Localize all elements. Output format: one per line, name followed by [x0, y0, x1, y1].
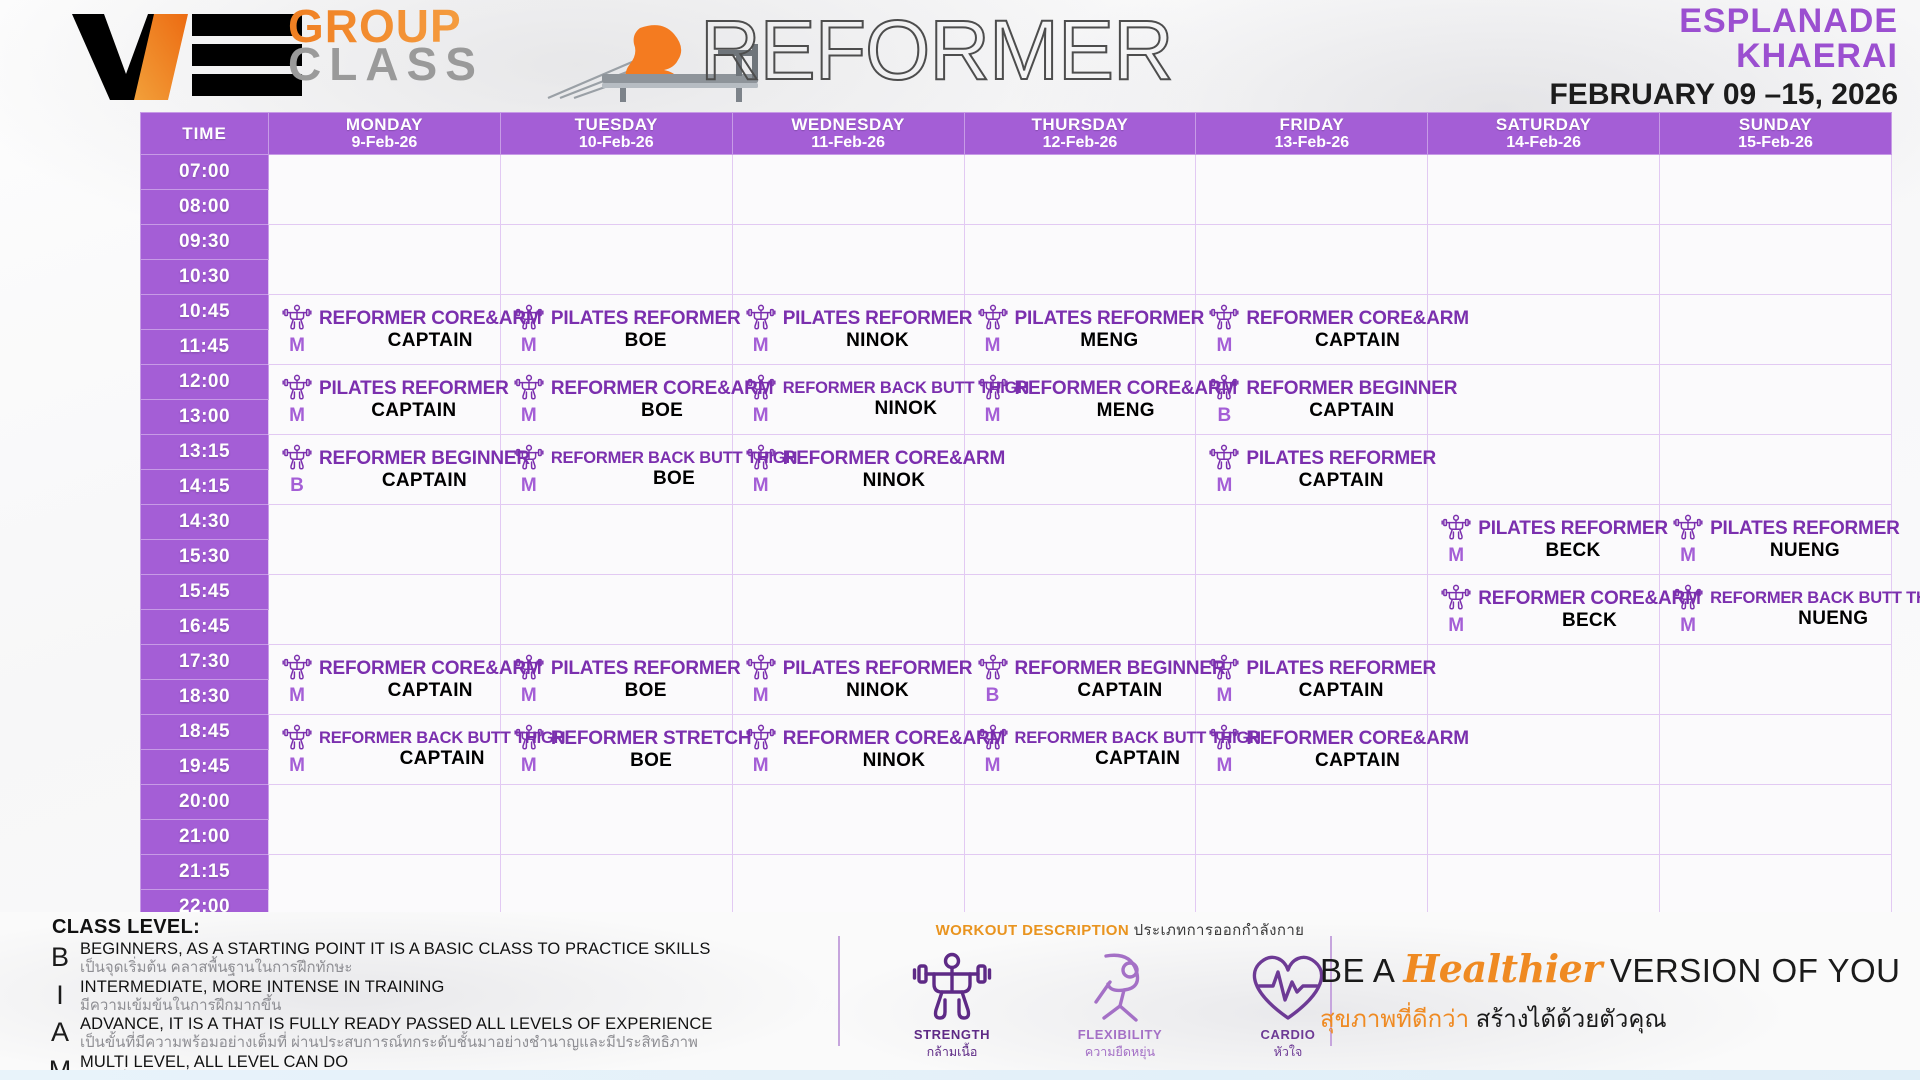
level-text-th: เป็นจุดเริ่มต้น คลาสพื้นฐานในการฝึกทักษะ	[80, 959, 830, 976]
empty-slot	[1196, 575, 1428, 645]
workout-title-th: ประเภทการออกกำลังกาย	[1134, 922, 1305, 939]
strength-icon	[282, 723, 312, 751]
slot-text: REFORMER BEGINNERCAPTAIN	[1015, 659, 1226, 700]
slot-icon-level: M	[739, 723, 783, 777]
slot-icon-level: M	[1434, 583, 1478, 637]
day-name: FRIDAY	[1196, 116, 1427, 134]
class-name: REFORMER STRETCH	[551, 729, 752, 748]
instructor-name: CAPTAIN	[1015, 681, 1226, 700]
time-cell-start: 14:30	[141, 505, 269, 540]
slot-icon-level: B	[971, 653, 1015, 707]
empty-slot	[269, 225, 501, 295]
class-slot[interactable]: MREFORMER CORE&ARMNINOK	[732, 435, 964, 505]
time-cell-end: 16:45	[141, 610, 269, 645]
empty-slot	[1428, 435, 1660, 505]
class-slot[interactable]: MPILATES REFORMERBECK	[1428, 505, 1660, 575]
poster-footer: CLASS LEVEL: BBEGINNERS, AS A STARTING P…	[0, 912, 1920, 1080]
empty-slot	[964, 785, 1196, 855]
branch-info: ESPLANADE KHAERAI FEBRUARY 09 –15, 2026	[1549, 4, 1898, 112]
bottom-accent-bar	[0, 1070, 1920, 1080]
empty-slot	[1428, 155, 1660, 225]
empty-slot	[269, 505, 501, 575]
class-level-legend: CLASS LEVEL: BBEGINNERS, AS A STARTING P…	[40, 916, 830, 1080]
class-slot[interactable]: MREFORMER CORE&ARMBOE	[500, 365, 732, 435]
day-header-tuesday: TUESDAY10-Feb-26	[500, 113, 732, 155]
empty-slot	[964, 575, 1196, 645]
instructor-name: CAPTAIN	[319, 471, 530, 490]
empty-slot	[500, 225, 732, 295]
empty-slot	[269, 785, 501, 855]
class-slot[interactable]: MREFORMER CORE&ARMCAPTAIN	[269, 645, 501, 715]
time-cell-end: 15:30	[141, 540, 269, 575]
empty-slot	[1196, 505, 1428, 575]
class-slot[interactable]: MPILATES REFORMERBOE	[500, 295, 732, 365]
class-level-badge: M	[753, 685, 769, 707]
day-name: THURSDAY	[965, 116, 1196, 134]
empty-slot	[1428, 785, 1660, 855]
poster-header: GROUP CLASS REFORMER ESPLANADE KHAERAI F…	[0, 0, 1920, 118]
class-name: PILATES REFORMER	[1710, 519, 1900, 538]
class-name: PILATES REFORMER	[319, 379, 509, 398]
workout-item-strength: STRENGTH กล้ามเนื้อ	[894, 948, 1010, 1062]
strength-icon	[514, 653, 544, 681]
workout-icon-row: STRENGTH กล้ามเนื้อ FLEXIBILITY	[860, 948, 1380, 1062]
class-level-badge: M	[985, 755, 1001, 777]
class-level-badge: M	[289, 335, 305, 357]
table-row: 10:45MREFORMER CORE&ARMCAPTAINMPILATES R…	[141, 295, 1892, 330]
day-name: SATURDAY	[1428, 116, 1659, 134]
empty-slot	[964, 505, 1196, 575]
table-row: 17:30MREFORMER CORE&ARMCAPTAINMPILATES R…	[141, 645, 1892, 680]
class-level-badge: B	[290, 475, 304, 497]
table-row: 12:00MPILATES REFORMERCAPTAINMREFORMER C…	[141, 365, 1892, 400]
class-slot[interactable]: MREFORMER CORE&ARMMENG	[964, 365, 1196, 435]
cardio-heart-icon	[1245, 948, 1331, 1024]
class-name: PILATES REFORMER	[1015, 309, 1205, 328]
workout-cardio-th: หัวใจ	[1230, 1042, 1346, 1062]
slot-text: REFORMER BACK BUTT THIGHNUENG	[1710, 590, 1920, 628]
day-date: 10-Feb-26	[501, 134, 732, 151]
empty-slot	[1660, 365, 1892, 435]
class-level-badge: B	[986, 685, 1000, 707]
strength-icon	[746, 373, 776, 401]
empty-slot	[500, 575, 732, 645]
empty-slot	[1660, 155, 1892, 225]
time-cell-start: 17:30	[141, 645, 269, 680]
class-level-badge: M	[521, 405, 537, 427]
class-slot[interactable]: MPILATES REFORMERCAPTAIN	[269, 365, 501, 435]
slot-icon-level: M	[507, 303, 551, 357]
time-cell-end: 11:45	[141, 330, 269, 365]
table-row: 14:30MPILATES REFORMERBECKMPILATES REFOR…	[141, 505, 1892, 540]
time-cell-start: 10:45	[141, 295, 269, 330]
slot-icon-level: M	[1434, 513, 1478, 567]
strength-icon	[1209, 373, 1239, 401]
empty-slot	[1196, 225, 1428, 295]
slot-text: REFORMER STRETCHBOE	[551, 729, 752, 770]
slot-text: PILATES REFORMERCAPTAIN	[1246, 659, 1436, 700]
schedule-poster: GROUP CLASS REFORMER ESPLANADE KHAERAI F…	[0, 0, 1920, 1080]
strength-icon	[746, 303, 776, 331]
table-header: TIME MONDAY9-Feb-26TUESDAY10-Feb-26WEDNE…	[141, 113, 1892, 155]
slot-icon-level: M	[1666, 583, 1710, 637]
class-slot[interactable]: BREFORMER BEGINNERCAPTAIN	[269, 435, 501, 505]
time-cell-start: 12:00	[141, 365, 269, 400]
class-level-row: IINTERMEDIATE, MORE INTENSE IN TRAININGม…	[40, 978, 830, 1015]
level-text-en: INTERMEDIATE, MORE INTENSE IN TRAINING	[80, 978, 830, 997]
class-level-badge: M	[521, 475, 537, 497]
empty-slot	[964, 155, 1196, 225]
strength-icon	[746, 443, 776, 471]
empty-slot	[732, 785, 964, 855]
class-level-badge: M	[985, 335, 1001, 357]
strength-icon	[1673, 513, 1703, 541]
class-level-title: CLASS LEVEL:	[52, 916, 830, 939]
table-row: 07:00	[141, 155, 1892, 190]
day-name: TUESDAY	[501, 116, 732, 134]
tagline-thai-orange: สุขภาพที่ดีกว่า	[1320, 1006, 1469, 1033]
instructor-name: NINOK	[783, 331, 973, 350]
slot-text: REFORMER CORE&ARMCAPTAIN	[1246, 309, 1469, 350]
class-name: REFORMER CORE&ARM	[1246, 729, 1469, 748]
slot-icon-level: M	[739, 443, 783, 497]
tagline-part2: VERSION OF YOU	[1610, 952, 1901, 990]
level-text-th: เป็นขั้นที่มีความพร้อมอย่างเต็มที่ ผ่านป…	[80, 1034, 830, 1051]
empty-slot	[1660, 645, 1892, 715]
level-text-en: MULTI LEVEL, ALL LEVEL CAN DO	[80, 1053, 830, 1072]
slot-icon-level: M	[507, 723, 551, 777]
empty-slot	[1428, 225, 1660, 295]
table-header-row: TIME MONDAY9-Feb-26TUESDAY10-Feb-26WEDNE…	[141, 113, 1892, 155]
level-text: INTERMEDIATE, MORE INTENSE IN TRAININGมี…	[80, 978, 830, 1015]
strength-icon	[912, 948, 992, 1024]
class-level-badge: M	[289, 685, 305, 707]
instructor-name: CAPTAIN	[1246, 751, 1469, 770]
class-slot[interactable]: MREFORMER STRETCHBOE	[500, 715, 732, 785]
instructor-name: BECK	[1478, 541, 1668, 560]
table-row: 13:15BREFORMER BEGINNERCAPTAINMREFORMER …	[141, 435, 1892, 470]
slot-text: REFORMER BEGINNERCAPTAIN	[1246, 379, 1457, 420]
empty-slot	[1428, 645, 1660, 715]
day-name: WEDNESDAY	[733, 116, 964, 134]
slot-icon-level: B	[1202, 373, 1246, 427]
strength-icon	[1441, 583, 1471, 611]
slot-icon-level: M	[1202, 303, 1246, 357]
workout-title-en: WORKOUT DESCRIPTION	[936, 922, 1129, 939]
empty-slot	[269, 155, 501, 225]
time-column-header: TIME	[141, 113, 269, 155]
instructor-name: BOE	[551, 751, 752, 770]
class-slot[interactable]: MREFORMER CORE&ARMCAPTAIN	[269, 295, 501, 365]
strength-icon	[1209, 723, 1239, 751]
class-level-badge: M	[753, 475, 769, 497]
workout-description-title: WORKOUT DESCRIPTION ประเภทการออกกำลังกาย	[860, 918, 1380, 942]
strength-icon	[282, 303, 312, 331]
class-slot[interactable]: MREFORMER BACK BUTT THIGHCAPTAIN	[269, 715, 501, 785]
table-row: 18:45MREFORMER BACK BUTT THIGHCAPTAINMRE…	[141, 715, 1892, 750]
day-name: MONDAY	[269, 116, 500, 134]
tagline-english: BE A Healthier VERSION OF YOU	[1320, 946, 1880, 991]
class-slot[interactable]: BREFORMER BEGINNERCAPTAIN	[1196, 365, 1428, 435]
class-slot[interactable]: MPILATES REFORMERBOE	[500, 645, 732, 715]
class-level-badge: M	[1216, 335, 1232, 357]
tagline-thai-dark: สร้างได้ด้วยตัวคุณ	[1476, 1006, 1667, 1033]
class-level-row: BBEGINNERS, AS A STARTING POINT IT IS A …	[40, 940, 830, 977]
slot-icon-level: M	[739, 373, 783, 427]
slot-icon-level: M	[971, 373, 1015, 427]
instructor-name: CAPTAIN	[319, 401, 509, 420]
day-date: 14-Feb-26	[1428, 134, 1659, 151]
empty-slot	[732, 225, 964, 295]
class-name: REFORMER BEGINNER	[1015, 659, 1226, 678]
time-cell-start: 09:30	[141, 225, 269, 260]
instructor-name: CAPTAIN	[1246, 331, 1469, 350]
table-body: 07:0008:0009:3010:3010:45MREFORMER CORE&…	[141, 155, 1892, 925]
slot-icon-level: M	[275, 653, 319, 707]
strength-icon	[282, 373, 312, 401]
strength-icon	[514, 723, 544, 751]
class-name: REFORMER CORE&ARM	[783, 449, 1006, 468]
slot-icon-level: M	[971, 723, 1015, 777]
class-slot[interactable]: MREFORMER CORE&ARMCAPTAIN	[1196, 715, 1428, 785]
level-text: ADVANCE, IT IS A THAT IS FULLY READY PAS…	[80, 1015, 830, 1052]
slot-text: PILATES REFORMERBECK	[1478, 519, 1668, 560]
class-level-badge: M	[1680, 615, 1696, 637]
day-header-friday: FRIDAY13-Feb-26	[1196, 113, 1428, 155]
instructor-name: NUENG	[1710, 609, 1920, 628]
strength-icon	[978, 303, 1008, 331]
slot-icon-level: M	[275, 303, 319, 357]
class-level-badge: M	[1680, 545, 1696, 567]
workout-flexibility-th: ความยืดหยุ่น	[1062, 1042, 1178, 1062]
class-name: PILATES REFORMER	[551, 309, 741, 328]
strength-icon	[746, 723, 776, 751]
schedule-table: TIME MONDAY9-Feb-26TUESDAY10-Feb-26WEDNE…	[140, 112, 1892, 925]
day-name: SUNDAY	[1660, 116, 1891, 134]
class-name: REFORMER BEGINNER	[319, 449, 530, 468]
time-cell-start: 21:15	[141, 855, 269, 890]
class-level-badge: M	[1216, 475, 1232, 497]
level-text-th: มีความเข้มข้นในการฝึกมากขึ้น	[80, 997, 830, 1014]
time-cell-end: 14:15	[141, 470, 269, 505]
level-text: BEGINNERS, AS A STARTING POINT IT IS A B…	[80, 940, 830, 977]
strength-icon	[1209, 443, 1239, 471]
slot-text: REFORMER CORE&ARMNINOK	[783, 449, 1006, 490]
empty-slot	[1428, 365, 1660, 435]
strength-icon	[1209, 653, 1239, 681]
flexibility-icon	[1080, 948, 1160, 1024]
we-logo	[68, 8, 308, 100]
table-row: 15:45MREFORMER CORE&ARMBECKMREFORMER BAC…	[141, 575, 1892, 610]
slot-icon-level: M	[739, 303, 783, 357]
class-slot[interactable]: MREFORMER BACK BUTT THIGHNUENG	[1660, 575, 1892, 645]
class-slot[interactable]: MREFORMER BACK BUTT THIGHCAPTAIN	[964, 715, 1196, 785]
day-date: 9-Feb-26	[269, 134, 500, 151]
slot-text: PILATES REFORMERCAPTAIN	[1246, 449, 1436, 490]
day-header-monday: MONDAY9-Feb-26	[269, 113, 501, 155]
strength-icon	[514, 303, 544, 331]
date-range: FEBRUARY 09 –15, 2026	[1549, 78, 1898, 112]
class-level-badge: B	[1218, 405, 1232, 427]
slot-icon-level: M	[1202, 443, 1246, 497]
strength-icon	[514, 443, 544, 471]
empty-slot	[500, 505, 732, 575]
slot-icon-level: M	[275, 373, 319, 427]
class-level-badge: M	[753, 405, 769, 427]
class-slot[interactable]: MREFORMER BACK BUTT THIGHNINOK	[732, 365, 964, 435]
slot-icon-level: M	[739, 653, 783, 707]
empty-slot	[732, 505, 964, 575]
time-cell-end: 21:00	[141, 820, 269, 855]
instructor-name: CAPTAIN	[1246, 401, 1457, 420]
instructor-name: CAPTAIN	[1246, 471, 1436, 490]
day-date: 11-Feb-26	[733, 134, 964, 151]
workout-strength-en: STRENGTH	[894, 1027, 1010, 1042]
tagline-script-word: Healthier	[1403, 946, 1601, 991]
slot-text: PILATES REFORMERNUENG	[1710, 519, 1900, 560]
level-text-en: BEGINNERS, AS A STARTING POINT IT IS A B…	[80, 940, 830, 959]
day-header-wednesday: WEDNESDAY11-Feb-26	[732, 113, 964, 155]
time-cell-end: 19:45	[141, 750, 269, 785]
class-level-badge: M	[289, 405, 305, 427]
class-slot[interactable]: MREFORMER CORE&ARMNINOK	[732, 715, 964, 785]
class-slot[interactable]: MPILATES REFORMERNUENG	[1660, 505, 1892, 575]
empty-slot	[500, 785, 732, 855]
class-level-badge: M	[1216, 685, 1232, 707]
slot-text: PILATES REFORMERCAPTAIN	[319, 379, 509, 420]
level-letter: B	[40, 940, 80, 975]
time-cell-start: 18:45	[141, 715, 269, 750]
class-level-badge: M	[1216, 755, 1232, 777]
workout-strength-th: กล้ามเนื้อ	[894, 1042, 1010, 1062]
class-slot[interactable]: MPILATES REFORMERMENG	[964, 295, 1196, 365]
instructor-name: BOE	[551, 331, 741, 350]
slot-icon-level: M	[507, 373, 551, 427]
class-name: REFORMER CORE&ARM	[1246, 309, 1469, 328]
slot-text: PILATES REFORMERBOE	[551, 309, 741, 350]
class-level-badge: M	[1448, 545, 1464, 567]
empty-slot	[1660, 225, 1892, 295]
day-header-thursday: THURSDAY12-Feb-26	[964, 113, 1196, 155]
class-slot[interactable]: MPILATES REFORMERCAPTAIN	[1196, 435, 1428, 505]
class-level-badge: M	[985, 405, 1001, 427]
class-name: PILATES REFORMER	[1246, 659, 1436, 678]
instructor-name: CAPTAIN	[1246, 681, 1436, 700]
strength-icon	[1209, 303, 1239, 331]
instructor-name: NINOK	[783, 471, 1006, 490]
tagline-block: BE A Healthier VERSION OF YOU สุขภาพที่ด…	[1320, 946, 1880, 1038]
table-row: 21:15	[141, 855, 1892, 890]
strength-icon	[978, 373, 1008, 401]
instructor-name: BOE	[551, 681, 741, 700]
time-cell-start: 13:15	[141, 435, 269, 470]
branch-name-line1: ESPLANADE	[1549, 4, 1898, 39]
class-name: REFORMER BACK BUTT THIGH	[1710, 590, 1920, 607]
slot-icon-level: M	[507, 653, 551, 707]
empty-slot	[500, 155, 732, 225]
class-slot[interactable]: MPILATES REFORMERNINOK	[732, 295, 964, 365]
branch-name-line2: KHAERAI	[1549, 39, 1898, 74]
time-cell-end: 08:00	[141, 190, 269, 225]
class-name: PILATES REFORMER	[1246, 449, 1436, 468]
class-level-badge: M	[289, 755, 305, 777]
time-cell-end: 13:00	[141, 400, 269, 435]
empty-slot	[269, 575, 501, 645]
workout-description: WORKOUT DESCRIPTION ประเภทการออกกำลังกาย	[860, 918, 1380, 1062]
strength-icon	[1441, 513, 1471, 541]
empty-slot	[1196, 155, 1428, 225]
slot-text: PILATES REFORMERNINOK	[783, 659, 973, 700]
class-slot[interactable]: MPILATES REFORMERCAPTAIN	[1196, 645, 1428, 715]
class-level-badge: M	[753, 755, 769, 777]
strength-icon	[282, 443, 312, 471]
class-name: PILATES REFORMER	[783, 309, 973, 328]
slot-icon-level: M	[1666, 513, 1710, 567]
class-name: PILATES REFORMER	[551, 659, 741, 678]
class-level-list: BBEGINNERS, AS A STARTING POINT IT IS A …	[40, 940, 830, 1080]
instructor-name: NUENG	[1710, 541, 1900, 560]
day-date: 12-Feb-26	[965, 134, 1196, 151]
poster-title: REFORMER	[700, 2, 1173, 99]
class-level-badge: M	[753, 335, 769, 357]
level-letter: A	[40, 1015, 80, 1050]
class-slot[interactable]: BREFORMER BEGINNERCAPTAIN	[964, 645, 1196, 715]
empty-slot	[1660, 715, 1892, 785]
empty-slot	[732, 575, 964, 645]
workout-flexibility-en: FLEXIBILITY	[1062, 1027, 1178, 1042]
slot-text: REFORMER BEGINNERCAPTAIN	[319, 449, 530, 490]
day-header-sunday: SUNDAY15-Feb-26	[1660, 113, 1892, 155]
slot-text: REFORMER CORE&ARMCAPTAIN	[1246, 729, 1469, 770]
strength-icon	[282, 653, 312, 681]
tagline-part1: BE A	[1320, 952, 1395, 990]
class-level-row: AADVANCE, IT IS A THAT IS FULLY READY PA…	[40, 1015, 830, 1052]
schedule-table-wrapper: TIME MONDAY9-Feb-26TUESDAY10-Feb-26WEDNE…	[140, 112, 1892, 925]
class-name: PILATES REFORMER	[783, 659, 973, 678]
day-header-saturday: SATURDAY14-Feb-26	[1428, 113, 1660, 155]
strength-icon	[1673, 583, 1703, 611]
strength-icon	[978, 653, 1008, 681]
group-class-logo: GROUP CLASS	[288, 8, 484, 83]
time-cell-end: 10:30	[141, 260, 269, 295]
instructor-name: NINOK	[783, 681, 973, 700]
strength-icon	[746, 653, 776, 681]
slot-text: PILATES REFORMERNINOK	[783, 309, 973, 350]
instructor-name: MENG	[1015, 331, 1205, 350]
class-name: REFORMER BEGINNER	[1246, 379, 1457, 398]
class-slot[interactable]: MPILATES REFORMERNINOK	[732, 645, 964, 715]
class-slot[interactable]: MREFORMER CORE&ARMBECK	[1428, 575, 1660, 645]
slot-icon-level: M	[1202, 723, 1246, 777]
empty-slot	[1660, 785, 1892, 855]
strength-icon	[978, 723, 1008, 751]
slot-text: PILATES REFORMERMENG	[1015, 309, 1205, 350]
workout-item-flexibility: FLEXIBILITY ความยืดหยุ่น	[1062, 948, 1178, 1062]
level-text-en: ADVANCE, IT IS A THAT IS FULLY READY PAS…	[80, 1015, 830, 1034]
class-slot[interactable]: MREFORMER BACK BUTT THIGHBOE	[500, 435, 732, 505]
table-row: 09:30	[141, 225, 1892, 260]
tagline-thai: สุขภาพที่ดีกว่า สร้างได้ด้วยตัวคุณ	[1320, 999, 1880, 1038]
empty-slot	[964, 225, 1196, 295]
slot-icon-level: B	[275, 443, 319, 497]
class-slot[interactable]: MREFORMER CORE&ARMCAPTAIN	[1196, 295, 1428, 365]
logo-class-text: CLASS	[288, 46, 484, 84]
empty-slot	[1196, 785, 1428, 855]
empty-slot	[732, 155, 964, 225]
slot-icon-level: M	[275, 723, 319, 777]
day-date: 15-Feb-26	[1660, 134, 1891, 151]
strength-icon	[514, 373, 544, 401]
